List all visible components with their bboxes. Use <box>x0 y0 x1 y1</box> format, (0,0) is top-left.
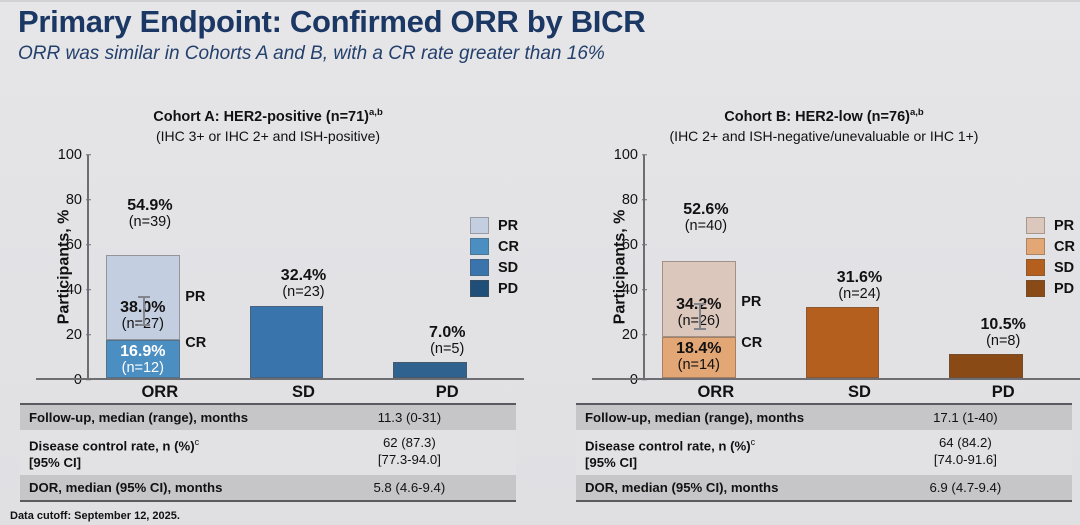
x-tick-pd: PD <box>376 383 518 402</box>
bar-pd[interactable] <box>949 354 1023 377</box>
y-tick-label: 60 <box>66 237 82 253</box>
y-tick-label: 40 <box>622 282 638 298</box>
inline-label-cr: CR <box>185 335 206 351</box>
orr-error-bar <box>143 296 145 326</box>
y-tick-label: 20 <box>622 327 638 343</box>
cohort-b-y-axis-ticks: 100 80 60 40 20 0 <box>592 155 638 380</box>
table-cell-key: DOR, median (95% CI), months <box>576 475 859 501</box>
cohort-b-x-axis-labels: ORR SD PD <box>645 383 1074 405</box>
orr-total-label: 54.9% (n=39) <box>95 197 205 231</box>
sd-value-label: 32.4% (n=23) <box>233 267 375 301</box>
page-subtitle: ORR was similar in Cohorts A and B, with… <box>18 42 1062 66</box>
cohort-b-subtitle: (IHC 2+ and ISH-negative/unevaluable or … <box>568 127 1080 146</box>
cohort-b-title: Cohort B: HER2-low (n=76)a,b <box>568 103 1080 127</box>
x-tick-pd: PD <box>932 383 1074 402</box>
cohort-b-chart: Participants, % 100 80 60 40 20 0 <box>568 155 1080 380</box>
orr-error-bar <box>699 303 701 330</box>
y-tick-label: 100 <box>58 147 82 163</box>
bar-segment-pd[interactable] <box>393 362 467 378</box>
table-cell-key: Disease control rate, n (%)c [95% CI] <box>20 430 303 475</box>
sd-value-label: 31.6% (n=24) <box>789 269 931 303</box>
bar-segment-cr[interactable]: 18.4% (n=14) <box>662 337 736 378</box>
table-footnote-marker: c <box>751 437 756 447</box>
pd-value-label: 10.5% (n=8) <box>932 316 1074 350</box>
table-cell-value: 6.9 (4.7-9.4) <box>859 475 1072 501</box>
slide-header: Primary Endpoint: Confirmed ORR by BICR … <box>18 4 1062 66</box>
x-tick-sd: SD <box>233 383 375 402</box>
table-cell-value: 62 (87.3) [77.3-94.0] <box>303 430 516 475</box>
table-cell-value: 5.8 (4.6-9.4) <box>303 475 516 501</box>
bar-group-sd: 31.6% (n=24) <box>789 155 931 378</box>
table-row: Disease control rate, n (%)c [95% CI] 62… <box>20 430 516 475</box>
bar-sd[interactable] <box>250 306 324 378</box>
cohort-a-title: Cohort A: HER2-positive (n=71)a,b <box>12 103 524 127</box>
table-cell-value: 64 (84.2) [74.0-91.6] <box>859 430 1072 475</box>
top-divider <box>0 0 1080 2</box>
x-tick-sd: SD <box>789 383 931 402</box>
bar-pd[interactable] <box>393 362 467 378</box>
cohort-a-x-axis-labels: ORR SD PD <box>89 383 518 405</box>
cohort-b-panel: Cohort B: HER2-low (n=76)a,b (IHC 2+ and… <box>568 103 1080 518</box>
cohort-a-y-axis-ticks: 100 80 60 40 20 0 <box>36 155 82 380</box>
bar-group-pd: 10.5% (n=8) <box>932 155 1074 378</box>
bar-segment-pd[interactable] <box>949 354 1023 377</box>
table-cell-key: DOR, median (95% CI), months <box>20 475 303 501</box>
cohort-a-bars: 54.9% (n=39) 16.9% (n=12) 38.0% <box>89 155 518 378</box>
orr-total-label: 52.6% (n=40) <box>651 201 761 235</box>
bar-orr[interactable]: 16.9% (n=12) 38.0% (n=27) <box>106 255 180 377</box>
cohort-a-subtitle: (IHC 3+ or IHC 2+ and ISH-positive) <box>12 127 524 146</box>
inline-label-pr: PR <box>185 289 205 305</box>
cr-value-label: 18.4% (n=14) <box>663 340 735 374</box>
cohort-b-title-text: Cohort B: HER2-low (n=76) <box>724 109 910 125</box>
x-tick-orr: ORR <box>645 383 787 402</box>
table-cell-value: 11.3 (0-31) <box>303 404 516 430</box>
y-tick-label: 100 <box>614 147 638 163</box>
cohort-a-panel: Cohort A: HER2-positive (n=71)a,b (IHC 3… <box>12 103 524 518</box>
cohort-a-table: Follow-up, median (range), months 11.3 (… <box>20 403 516 502</box>
cohort-b-x-axis-line <box>592 378 1080 380</box>
bar-group-sd: 32.4% (n=23) <box>233 155 375 378</box>
page-title: Primary Endpoint: Confirmed ORR by BICR <box>18 4 1062 40</box>
cohort-b-table: Follow-up, median (range), months 17.1 (… <box>576 403 1072 502</box>
cohort-b-title-footnote-marker: a,b <box>910 107 924 118</box>
cohort-b-bars: 52.6% (n=40) 18.4% (n=14) 34.2% <box>645 155 1074 378</box>
table-cell-key: Follow-up, median (range), months <box>576 404 859 430</box>
y-tick-label: 80 <box>622 192 638 208</box>
bar-group-orr: 54.9% (n=39) 16.9% (n=12) 38.0% <box>89 155 231 378</box>
bar-segment-sd[interactable] <box>806 307 880 377</box>
cohort-a-title-text: Cohort A: HER2-positive (n=71) <box>153 109 369 125</box>
y-tick-label: 0 <box>74 372 82 388</box>
y-tick-label: 40 <box>66 282 82 298</box>
x-tick-orr: ORR <box>89 383 231 402</box>
y-tick-label: 60 <box>622 237 638 253</box>
inline-label-pr: PR <box>741 294 761 310</box>
table-row: DOR, median (95% CI), months 5.8 (4.6-9.… <box>20 475 516 501</box>
table-row: DOR, median (95% CI), months 6.9 (4.7-9.… <box>576 475 1072 501</box>
bar-sd[interactable] <box>806 307 880 377</box>
table-cell-key: Disease control rate, n (%)c [95% CI] <box>576 430 859 475</box>
table-row: Follow-up, median (range), months 11.3 (… <box>20 404 516 430</box>
bar-segment-cr[interactable]: 16.9% (n=12) <box>106 340 180 378</box>
table-footnote-marker: c <box>195 437 200 447</box>
table-cell-value: 17.1 (1-40) <box>859 404 1072 430</box>
table-row: Disease control rate, n (%)c [95% CI] 64… <box>576 430 1072 475</box>
data-cutoff-footnote: Data cutoff: September 12, 2025. <box>10 510 180 522</box>
inline-label-cr: CR <box>741 335 762 351</box>
y-tick-label: 80 <box>66 192 82 208</box>
table-cell-key: Follow-up, median (range), months <box>20 404 303 430</box>
pd-value-label: 7.0% (n=5) <box>376 324 518 358</box>
cohort-a-chart: Participants, % 100 80 60 40 20 0 <box>12 155 524 380</box>
y-tick-label: 0 <box>630 372 638 388</box>
bar-segment-sd[interactable] <box>250 306 324 378</box>
cr-value-label: 16.9% (n=12) <box>107 343 179 377</box>
bar-group-pd: 7.0% (n=5) <box>376 155 518 378</box>
table-row: Follow-up, median (range), months 17.1 (… <box>576 404 1072 430</box>
y-tick-label: 20 <box>66 327 82 343</box>
bar-orr[interactable]: 18.4% (n=14) 34.2% (n=26) <box>662 261 736 378</box>
slide: Primary Endpoint: Confirmed ORR by BICR … <box>0 0 1080 525</box>
bar-group-orr: 52.6% (n=40) 18.4% (n=14) 34.2% <box>645 155 787 378</box>
cohort-a-title-footnote-marker: a,b <box>369 107 383 118</box>
cohort-a-x-axis-line <box>36 378 524 380</box>
